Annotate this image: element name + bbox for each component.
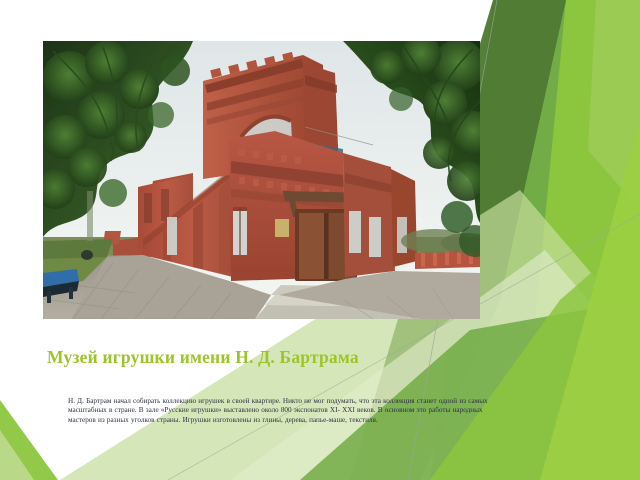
deco-shape-right-pale-wedge	[588, 0, 640, 210]
deco-shape-diagonal-mid	[300, 300, 640, 480]
museum-photo	[43, 41, 480, 319]
deco-shape-corner-bright	[540, 120, 640, 480]
deco-shape-bottom-left-pale	[0, 430, 34, 480]
deco-shape-bottom-left-wedge	[0, 400, 58, 480]
presentation-slide: Музей игрушки имени Н. Д. Бартрама Н. Д.…	[0, 0, 640, 480]
body-paragraph: Н. Д. Бартрам начал собирать коллекцию и…	[68, 397, 488, 425]
deco-shape-right-bright	[520, 0, 640, 480]
page-title: Музей игрушки имени Н. Д. Бартрама	[47, 347, 477, 368]
museum-photo-image	[43, 41, 480, 319]
